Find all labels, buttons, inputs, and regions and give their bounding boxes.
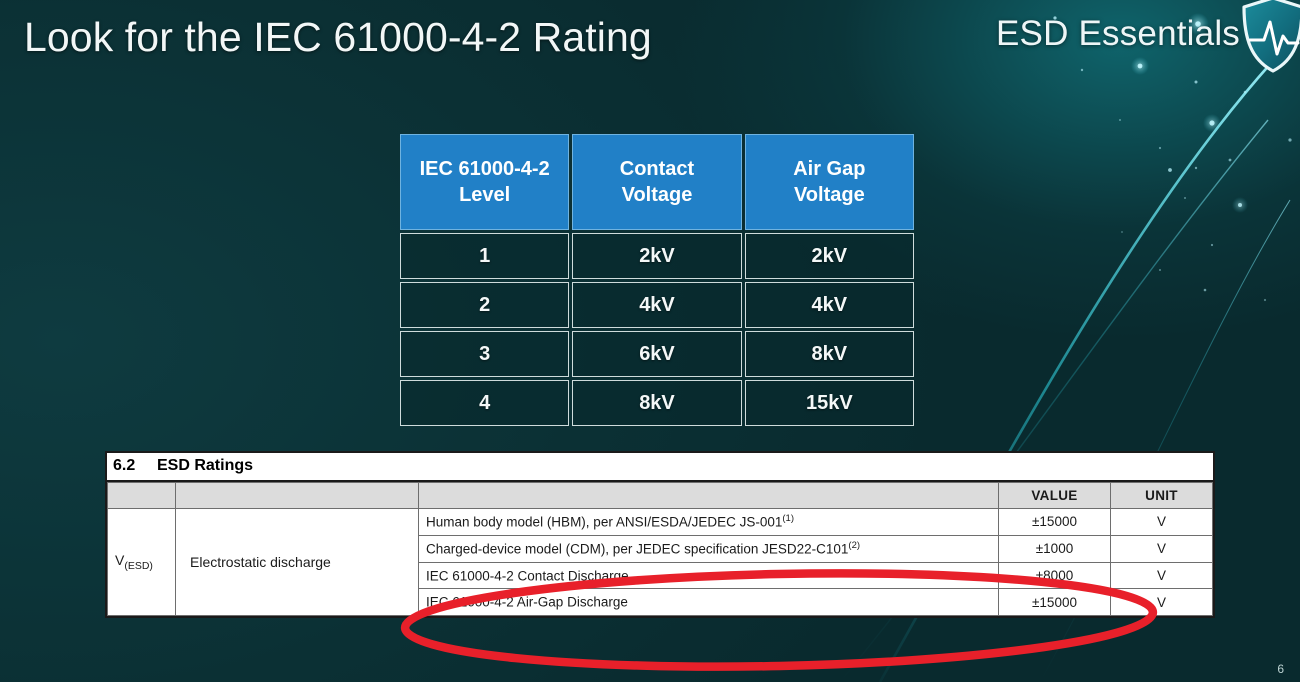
table-header-row: VALUE UNIT (108, 483, 1213, 509)
header-line-2: Voltage (622, 184, 693, 206)
cell-value: ±1000 (999, 535, 1111, 562)
cell-contact: 8kV (572, 380, 741, 426)
cell-value: ±15000 (999, 509, 1111, 536)
footnote-marker: (2) (848, 540, 860, 551)
cell-description: IEC 61000-4-2 Air-Gap Discharge (419, 589, 999, 616)
slide-canvas: Look for the IEC 61000-4-2 Rating ESD Es… (0, 0, 1300, 682)
section-title: ESD Ratings (157, 457, 253, 474)
cell-airgap: 8kV (745, 331, 914, 377)
description-text: Charged-device model (CDM), per JEDEC sp… (426, 541, 848, 556)
table-row: 2 4kV 4kV (400, 282, 914, 328)
column-header-contact-voltage: Contact Voltage (572, 134, 741, 230)
shield-heartbeat-icon (1240, 0, 1300, 74)
table-row: V(ESD) Electrostatic discharge Human bod… (108, 509, 1213, 536)
cell-description: Human body model (HBM), per ANSI/ESDA/JE… (419, 509, 999, 536)
table-row: 3 6kV 8kV (400, 331, 914, 377)
cell-airgap: 15kV (745, 380, 914, 426)
table-row: 1 2kV 2kV (400, 233, 914, 279)
cell-unit: V (1111, 535, 1213, 562)
cell-contact: 6kV (572, 331, 741, 377)
column-header-unit: UNIT (1111, 483, 1213, 509)
column-header-level: IEC 61000-4-2 Level (400, 134, 569, 230)
cell-airgap: 2kV (745, 233, 914, 279)
header-line-2: Voltage (794, 184, 865, 206)
description-text: IEC 61000-4-2 Contact Discharge (426, 568, 629, 583)
iec-level-table: IEC 61000-4-2 Level Contact Voltage Air … (397, 131, 917, 429)
header-line-1: IEC 61000-4-2 (420, 158, 550, 180)
symbol-subscript: (ESD) (124, 560, 153, 572)
header-line-1: Contact (620, 158, 694, 180)
esd-ratings-table: VALUE UNIT V(ESD) Electrostatic discharg… (107, 482, 1213, 616)
cell-unit: V (1111, 589, 1213, 616)
column-header-symbol (108, 483, 176, 509)
cell-level: 1 (400, 233, 569, 279)
table-header-row: IEC 61000-4-2 Level Contact Voltage Air … (400, 134, 914, 230)
table-row: 4 8kV 15kV (400, 380, 914, 426)
datasheet-excerpt: 6.2ESD Ratings VALUE UNIT V(ESD) Electro… (105, 451, 1215, 618)
page-title: Look for the IEC 61000-4-2 Rating (24, 14, 652, 61)
datasheet-section-heading: 6.2ESD Ratings (107, 453, 1213, 482)
cell-level: 3 (400, 331, 569, 377)
column-header-air-gap-voltage: Air Gap Voltage (745, 134, 914, 230)
cell-contact: 4kV (572, 282, 741, 328)
cell-unit: V (1111, 509, 1213, 536)
description-text: Human body model (HBM), per ANSI/ESDA/JE… (426, 515, 782, 530)
cell-contact: 2kV (572, 233, 741, 279)
description-text: IEC 61000-4-2 Air-Gap Discharge (426, 595, 628, 610)
footnote-marker: (1) (782, 513, 794, 524)
section-number: 6.2 (113, 457, 157, 475)
column-header-description (419, 483, 999, 509)
brand-label: ESD Essentials (996, 14, 1240, 54)
cell-value: ±8000 (999, 562, 1111, 589)
cell-parameter: Electrostatic discharge (176, 509, 419, 616)
cell-value: ±15000 (999, 589, 1111, 616)
column-header-parameter (176, 483, 419, 509)
cell-description: IEC 61000-4-2 Contact Discharge (419, 562, 999, 589)
page-number: 6 (1277, 662, 1284, 676)
cell-symbol: V(ESD) (108, 509, 176, 616)
symbol-text: V (115, 552, 124, 568)
cell-description: Charged-device model (CDM), per JEDEC sp… (419, 535, 999, 562)
column-header-value: VALUE (999, 483, 1111, 509)
header-line-2: Level (459, 184, 510, 206)
cell-unit: V (1111, 562, 1213, 589)
header-line-1: Air Gap (793, 158, 865, 180)
cell-level: 2 (400, 282, 569, 328)
cell-airgap: 4kV (745, 282, 914, 328)
cell-level: 4 (400, 380, 569, 426)
